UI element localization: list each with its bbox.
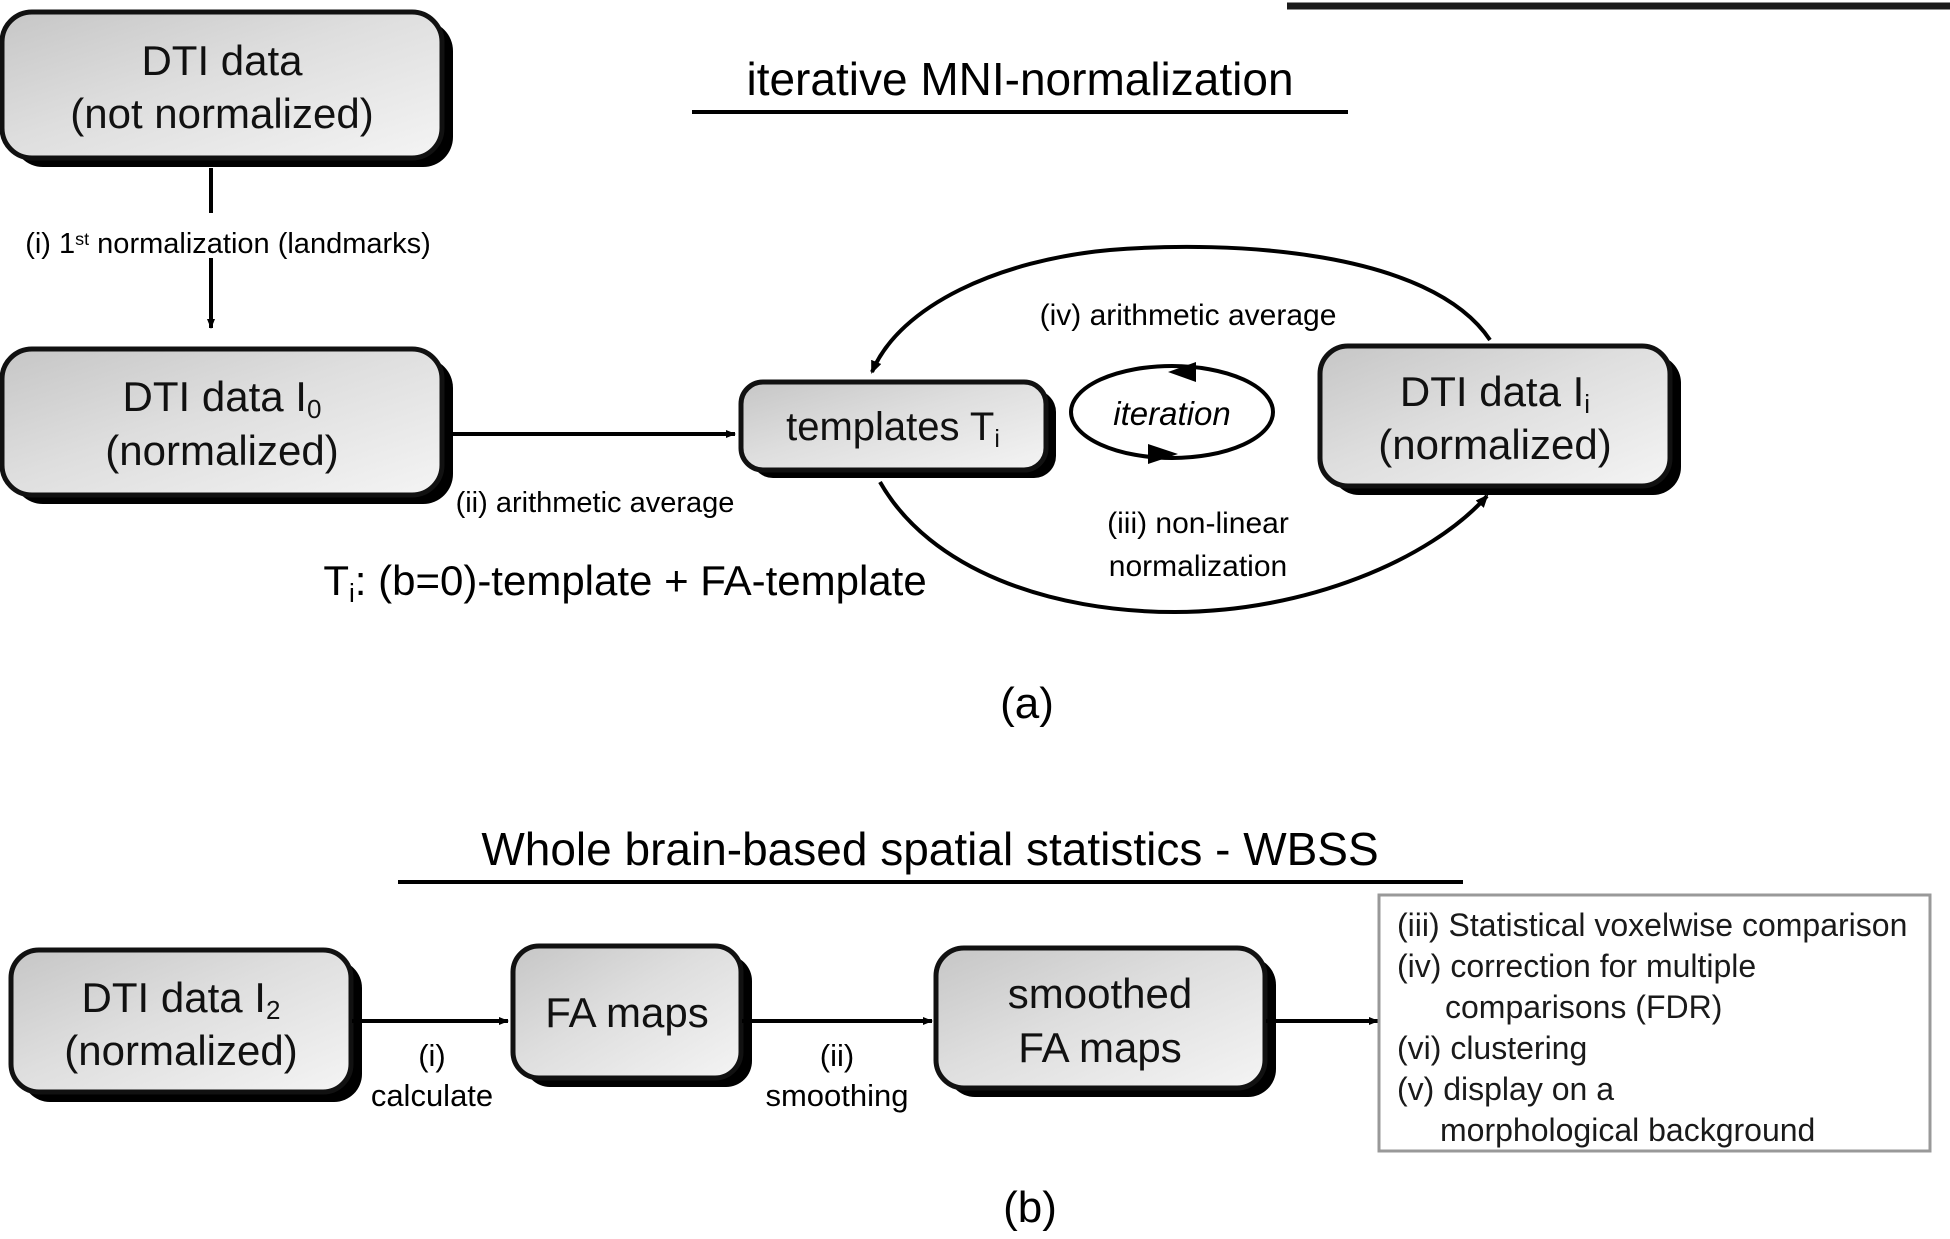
- notebox-line: (iv) correction for multiple: [1397, 948, 1756, 984]
- node-label-main: DTI data I: [1400, 368, 1584, 415]
- panel-a-caption: (a): [1000, 679, 1054, 728]
- edge-label-step-iii-line1: (iii) non-linear: [1107, 507, 1289, 540]
- node-label-fa-maps: FA maps: [545, 989, 708, 1036]
- node-dti-i0: DTI data I0 (normalized): [2, 349, 453, 504]
- panel-b-caption: (b): [1003, 1183, 1057, 1232]
- edge-label-b-step-i-line1: (i): [418, 1038, 446, 1073]
- edge-label-step-ii: (ii) arithmetic average: [456, 487, 735, 519]
- iteration-label: iteration: [1113, 395, 1230, 432]
- node-dti-ii: DTI data Ii (normalized): [1320, 346, 1681, 495]
- node-label-subscript: i: [994, 426, 1000, 453]
- node-label-line2: (normalized): [105, 427, 338, 474]
- node-label-line2: (not normalized): [70, 90, 373, 137]
- node-label-subscript: 0: [307, 394, 321, 424]
- node-label-line2: (normalized): [1378, 421, 1611, 468]
- edge-label-step-i: (i) 1st normalization (landmarks): [25, 228, 431, 260]
- edge-step-iii: (iii) non-linear normalization: [880, 482, 1487, 612]
- node-dti-i2: DTI data I2 (normalized): [11, 950, 362, 1102]
- node-label-line1: DTI data I0: [123, 373, 322, 424]
- edge-step-i: (i) 1st normalization (landmarks): [25, 168, 431, 328]
- edge-label-step-iv: (iv) arithmetic average: [1040, 299, 1337, 332]
- edge-label-step-i-pre: (i) 1: [25, 228, 75, 260]
- edge-b-step-i: (i) calculate: [352, 1021, 508, 1113]
- edge-label-b-step-i-line2: calculate: [371, 1078, 493, 1113]
- node-label-main: DTI data I: [82, 974, 266, 1021]
- figure-root: iterative MNI-normalization DTI data (no…: [0, 0, 1950, 1239]
- node-label-line1: DTI data I2: [82, 974, 281, 1025]
- node-label-line2: FA maps: [1018, 1024, 1181, 1071]
- edge-label-step-i-sup: st: [75, 229, 89, 249]
- panel-a-title: iterative MNI-normalization: [746, 53, 1293, 105]
- node-dti-not-normalized: DTI data (not normalized): [2, 12, 453, 167]
- notebox-line: morphological background: [1440, 1112, 1815, 1148]
- panel-b-title: Whole brain-based spatial statistics - W…: [481, 823, 1378, 875]
- notebox-line: (v) display on a: [1397, 1071, 1614, 1107]
- node-label-line1: DTI data Ii: [1400, 368, 1590, 419]
- diagram-canvas: iterative MNI-normalization DTI data (no…: [0, 0, 1950, 1239]
- node-label-main: templates T: [786, 405, 994, 449]
- node-label-line2: (normalized): [64, 1027, 297, 1074]
- notebox-line: (iii) Statistical voxelwise comparison: [1397, 907, 1907, 943]
- node-smoothed-fa-maps: smoothed FA maps: [936, 948, 1276, 1097]
- edge-label-b-step-ii-line2: smoothing: [765, 1078, 908, 1113]
- footnote-rest: : (b=0)-template + FA-template: [355, 557, 927, 604]
- notebox: (iii) Statistical voxelwise comparison (…: [1379, 895, 1930, 1151]
- node-fa-maps: FA maps: [513, 946, 752, 1087]
- edge-label-step-iii-line2: normalization: [1109, 550, 1287, 583]
- notebox-line: (vi) clustering: [1397, 1030, 1587, 1066]
- node-label-line1: smoothed: [1008, 970, 1192, 1017]
- node-label-line1: DTI data: [141, 37, 303, 84]
- edge-b-step-ii: (ii) smoothing: [742, 1021, 932, 1113]
- panel-a-footnote: Ti: (b=0)-template + FA-template: [323, 557, 926, 608]
- node-label-subscript: 2: [266, 995, 280, 1025]
- edge-label-b-step-ii-line1: (ii): [820, 1038, 854, 1073]
- edge-label-step-i-post: normalization (landmarks): [89, 228, 431, 260]
- edge-step-ii: (ii) arithmetic average: [452, 434, 735, 519]
- footnote-prefix: T: [323, 557, 349, 604]
- node-label-main: DTI data I: [123, 373, 307, 420]
- node-templates: templates Ti: [741, 382, 1056, 478]
- notebox-line: comparisons (FDR): [1445, 989, 1722, 1025]
- iteration-loop: iteration: [1071, 362, 1273, 464]
- node-label-subscript: i: [1584, 389, 1590, 419]
- node-label-templates: templates Ti: [786, 405, 1000, 453]
